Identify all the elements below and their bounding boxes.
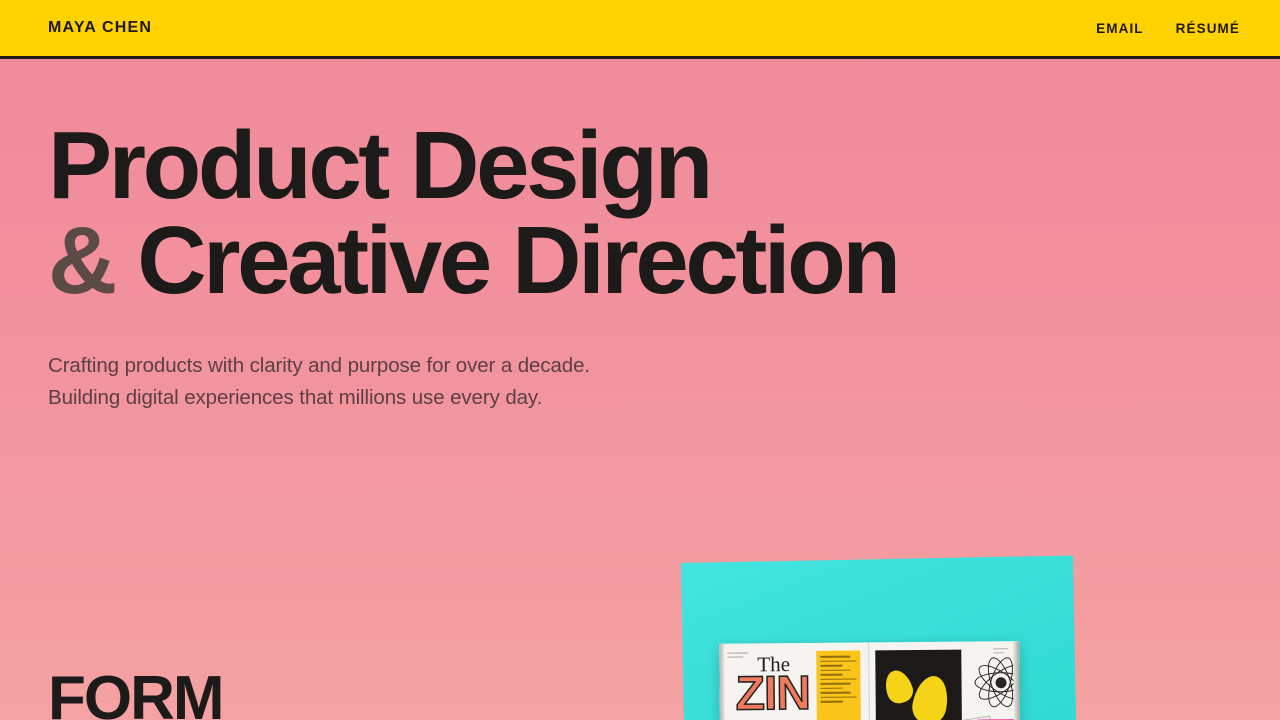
open-magazine-photo: The ZIN <box>719 641 1020 720</box>
nav-link-email[interactable]: EMAIL <box>1096 21 1144 36</box>
headline-line-1: Product Design <box>48 118 998 213</box>
showcase-image[interactable]: The ZIN <box>681 555 1077 720</box>
hero-subtitle: Crafting products with clarity and purpo… <box>48 350 998 415</box>
brand-logo[interactable]: MAYA CHEN <box>48 19 152 37</box>
page-title: Product Design & Creative Direction <box>48 118 998 308</box>
portfolio-landing-page: MAYA CHEN EMAIL RÉSUMÉ Product Design & … <box>0 0 1280 720</box>
subtitle-line-1: Crafting products with clarity and purpo… <box>48 350 998 382</box>
pear-shape-icon <box>881 667 916 707</box>
ampersand-glyph: & <box>48 207 114 314</box>
subtitle-line-2: Building digital experiences that millio… <box>48 382 998 414</box>
magazine-yellow-column <box>816 650 861 720</box>
headline-line-2: & Creative Direction <box>48 213 998 308</box>
magazine-left-page: The ZIN <box>719 642 870 720</box>
magazine-title-main: ZIN <box>735 670 810 719</box>
headline-line-2-text: Creative Direction <box>137 207 897 314</box>
atom-diagram-icon <box>973 655 1020 709</box>
hero-section: Product Design & Creative Direction Craf… <box>48 118 998 415</box>
nav-link-resume[interactable]: RÉSUMÉ <box>1176 21 1240 36</box>
magazine-micro-text <box>727 652 753 660</box>
site-header: MAYA CHEN EMAIL RÉSUMÉ <box>0 0 1280 59</box>
magazine-black-panel <box>875 650 962 720</box>
pear-shape-icon <box>909 673 952 720</box>
magazine-right-page <box>869 641 1020 720</box>
section-heading-form: FORM <box>48 668 223 720</box>
primary-navigation: EMAIL RÉSUMÉ <box>1096 21 1240 36</box>
